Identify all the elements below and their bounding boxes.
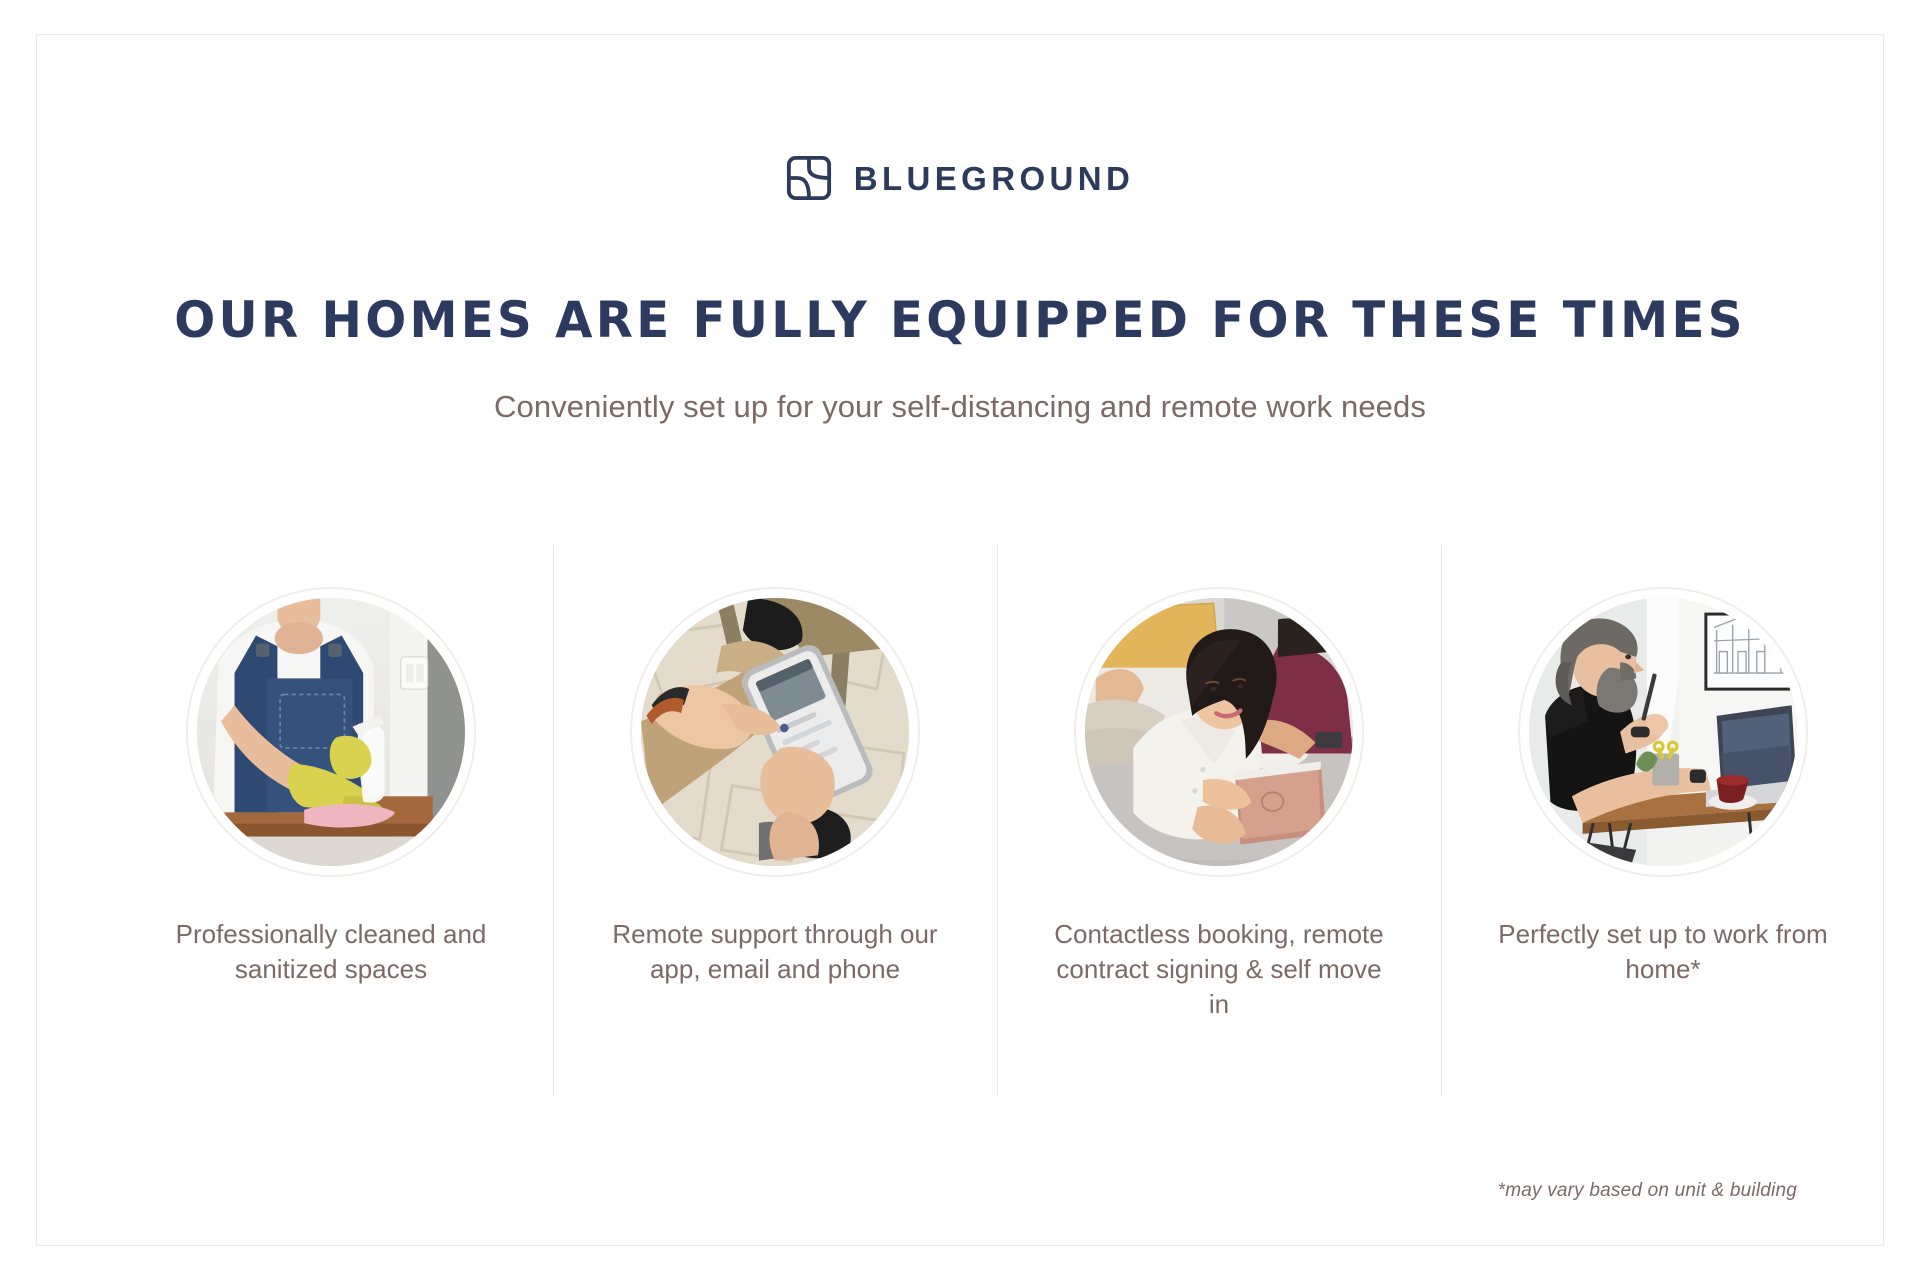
feature-photo-ring (1074, 587, 1364, 877)
feature-caption: Contactless booking, remote contract sig… (1054, 917, 1384, 1021)
feature-caption: Perfectly set up to work from home* (1498, 917, 1828, 987)
feature-card-remote-support: Remote support through our app, email an… (553, 545, 997, 1097)
feature-photo-ring (630, 587, 920, 877)
brand-lockup: BLUEGROUND (37, 155, 1883, 201)
feature-caption: Remote support through our app, email an… (610, 917, 940, 987)
poster-frame: BLUEGROUND OUR HOMES ARE FULLY EQUIPPED … (36, 34, 1884, 1246)
photo-contactless-booking (1085, 598, 1353, 866)
brand-wordmark: BLUEGROUND (854, 162, 1135, 195)
photo-professionally-cleaned (197, 598, 465, 866)
feature-card-work-from-home: Perfectly set up to work from home* (1441, 545, 1885, 1097)
feature-card-contactless-booking: Contactless booking, remote contract sig… (997, 545, 1441, 1097)
feature-photo-ring (1518, 587, 1808, 877)
poster-canvas: BLUEGROUND OUR HOMES ARE FULLY EQUIPPED … (0, 0, 1920, 1280)
page-title: OUR HOMES ARE FULLY EQUIPPED FOR THESE T… (69, 291, 1850, 349)
feature-photo-ring (186, 587, 476, 877)
page-subtitle: Conveniently set up for your self-distan… (37, 389, 1883, 425)
feature-caption: Professionally cleaned and sanitized spa… (166, 917, 496, 987)
photo-remote-support (641, 598, 909, 866)
photo-work-from-home (1529, 598, 1797, 866)
footnote-disclaimer: *may vary based on unit & building (1498, 1180, 1797, 1202)
feature-columns: Professionally cleaned and sanitized spa… (109, 545, 1885, 1097)
blueground-square-mark-icon (786, 155, 832, 201)
feature-card-professionally-cleaned: Professionally cleaned and sanitized spa… (109, 545, 553, 1097)
